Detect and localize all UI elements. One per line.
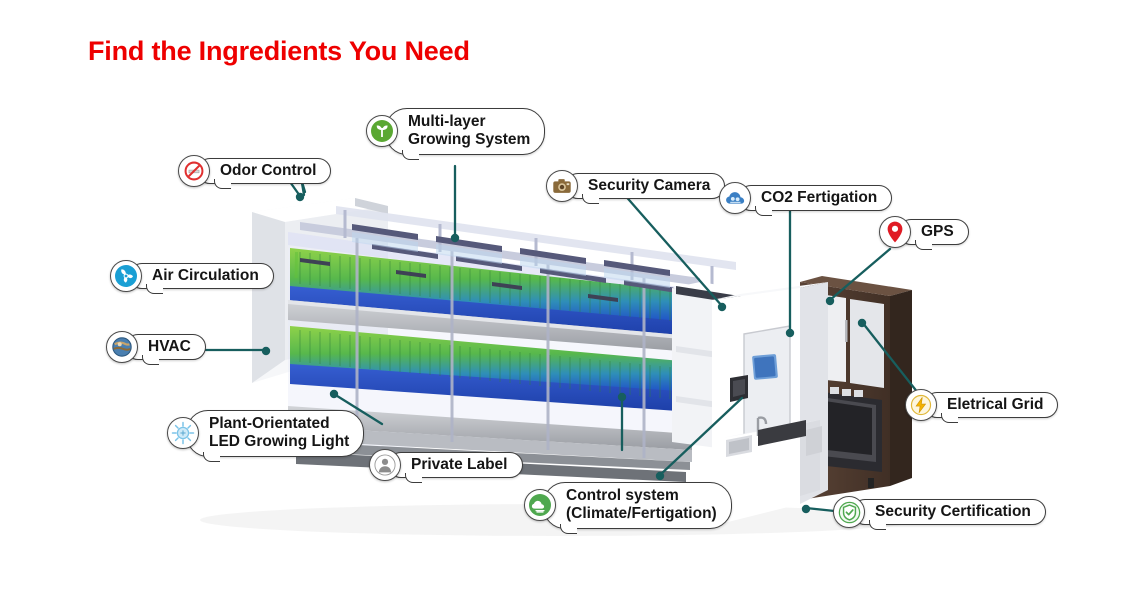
callout-label: Private Label — [388, 452, 523, 479]
map-pin-icon — [879, 216, 911, 248]
callout-private-label[interactable]: Private Label — [369, 449, 523, 481]
callout-label: Eletrical Grid — [924, 392, 1058, 419]
callout-control-system[interactable]: Control system (Climate/Fertigation) — [524, 482, 732, 529]
no-odor-icon — [178, 155, 210, 187]
person-icon — [369, 449, 401, 481]
fan-icon — [110, 260, 142, 292]
callout-odor-control[interactable]: Odor Control — [178, 155, 331, 187]
co2-cloud-icon — [719, 182, 751, 214]
diagram-canvas: Find the Ingredients You Need — [0, 0, 1146, 604]
callout-label: Multi-layer Growing System — [385, 108, 545, 155]
lightning-bolt-icon — [905, 389, 937, 421]
callout-security-certification[interactable]: Security Certification — [833, 496, 1046, 528]
callout-label: CO2 Fertigation — [738, 185, 892, 212]
callout-multi-layer-growing-system[interactable]: Multi-layer Growing System — [366, 108, 545, 155]
hvac-globe-icon — [106, 331, 138, 363]
callout-hvac[interactable]: HVAC — [106, 331, 206, 363]
green-cloud-icon — [524, 489, 556, 521]
callout-label: Odor Control — [197, 158, 331, 185]
callout-label: Security Certification — [852, 499, 1046, 526]
leaf-sprout-icon — [366, 115, 398, 147]
callout-electrical-grid[interactable]: Eletrical Grid — [905, 389, 1058, 421]
callout-led-growing-light[interactable]: Plant-Orientated LED Growing Light — [167, 410, 364, 457]
callout-label: Control system (Climate/Fertigation) — [543, 482, 732, 529]
callout-security-camera[interactable]: Security Camera — [546, 170, 725, 202]
callout-co2-fertigation[interactable]: CO2 Fertigation — [719, 182, 892, 214]
light-burst-icon — [167, 417, 199, 449]
camera-icon — [546, 170, 578, 202]
shield-check-icon — [833, 496, 865, 528]
callout-air-circulation[interactable]: Air Circulation — [110, 260, 274, 292]
callout-label: Plant-Orientated LED Growing Light — [186, 410, 364, 457]
callout-label: Security Camera — [565, 173, 725, 200]
callout-label: Air Circulation — [129, 263, 274, 290]
callout-gps[interactable]: GPS — [879, 216, 969, 248]
